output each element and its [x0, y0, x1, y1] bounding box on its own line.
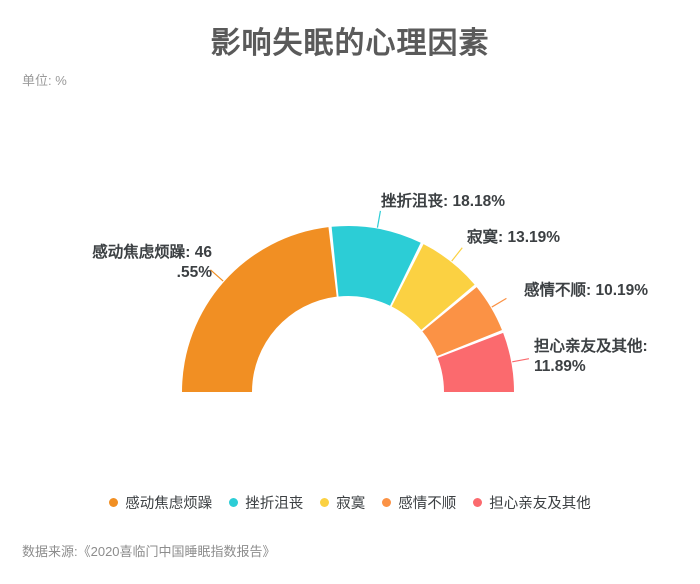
half-donut-chart	[0, 0, 700, 470]
legend-item-jimo[interactable]: 寂寞	[320, 492, 365, 513]
leader-line	[492, 298, 507, 307]
chart-source-note: 数据来源:《2020喜临门中国睡眠指数报告》	[22, 541, 276, 560]
chart-legend: 感动焦虑烦躁 挫折沮丧 寂寞 感情不顺 担心亲友及其他	[0, 492, 700, 513]
data-label-ganqing-jiaolv-fanzao: 感动焦虑烦躁: 46 .55%	[62, 243, 212, 284]
legend-item-cuozhe-jusang[interactable]: 挫折沮丧	[229, 492, 303, 513]
leader-line	[377, 211, 380, 228]
legend-dot-icon	[229, 498, 238, 507]
legend-item-ganqing-bushun[interactable]: 感情不顺	[382, 492, 456, 513]
leader-line	[210, 270, 223, 281]
legend-dot-icon	[382, 498, 391, 507]
plot-area: 感动焦虑烦躁: 46 .55% 挫折沮丧: 18.18% 寂寞: 13.19% …	[0, 0, 700, 470]
donut-slices	[182, 226, 514, 392]
legend-dot-icon	[473, 498, 482, 507]
legend-dot-icon	[109, 498, 118, 507]
legend-item-label: 寂寞	[336, 492, 365, 513]
data-label-danxin-qinyou-jiqita: 担心亲友及其他: 11.89%	[534, 337, 684, 378]
legend-item-label: 挫折沮丧	[245, 492, 303, 513]
chart-container: 影响失眠的心理因素 单位: % 感动焦虑烦躁: 46 .55% 挫折沮丧: 18…	[0, 0, 700, 584]
data-label-jimo: 寂寞: 13.19%	[467, 228, 560, 248]
legend-item-danxin-qinyou-jiqita[interactable]: 担心亲友及其他	[473, 492, 591, 513]
data-label-cuozhe-jusang: 挫折沮丧: 18.18%	[381, 192, 505, 212]
legend-dot-icon	[320, 498, 329, 507]
legend-item-label: 感情不顺	[398, 492, 456, 513]
leader-line	[452, 248, 463, 261]
data-label-ganqing-bushun: 感情不顺: 10.19%	[524, 281, 648, 301]
legend-item-label: 感动焦虑烦躁	[125, 492, 212, 513]
legend-item-ganqing-jiaolv-fanzao[interactable]: 感动焦虑烦躁	[109, 492, 212, 513]
legend-item-label: 担心亲友及其他	[489, 492, 591, 513]
leader-line	[512, 359, 529, 362]
